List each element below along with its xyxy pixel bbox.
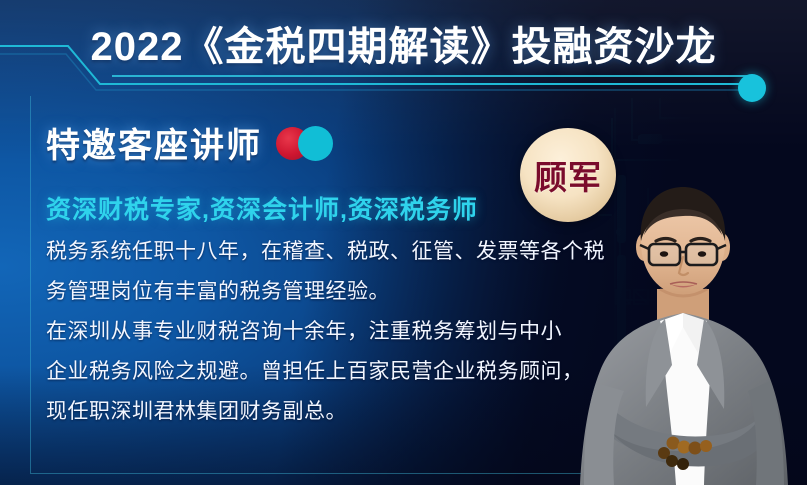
decorative-dots (276, 123, 340, 163)
bio-line: 企业税务风险之规避。曾担任上百家民营企业税务顾问， (46, 352, 576, 392)
page-title: 2022《金税四期解读》投融资沙龙 (0, 14, 807, 72)
bio-line: 税务系统任职十八年，在稽查、税政、征管、发票等各个税 (46, 232, 576, 272)
speaker-name: 顾军 (534, 151, 602, 199)
poster-canvas: 2022《金税四期解读》投融资沙龙 特邀客座讲师 资深财税专家,资深会计师,资深… (0, 0, 807, 485)
speaker-biography: 税务系统任职十八年，在稽查、税政、征管、发票等各个税 务管理岗位有丰富的税务管理… (46, 232, 576, 432)
cyan-accent-dot (738, 74, 766, 102)
bio-line: 务管理岗位有丰富的税务管理经验。 (46, 272, 576, 312)
bio-line: 现任职深圳君林集团财务副总。 (46, 392, 576, 432)
speaker-name-badge: 顾军 (520, 128, 616, 222)
cyan-circle-icon (298, 126, 333, 161)
bio-line: 在深圳从事专业财税咨询十余年，注重税务筹划与中小 (46, 312, 576, 352)
headline-row: 特邀客座讲师 (46, 118, 340, 167)
headline-label: 特邀客座讲师 (46, 118, 262, 167)
speaker-credentials: 资深财税专家,资深会计师,资深税务师 (46, 190, 478, 226)
